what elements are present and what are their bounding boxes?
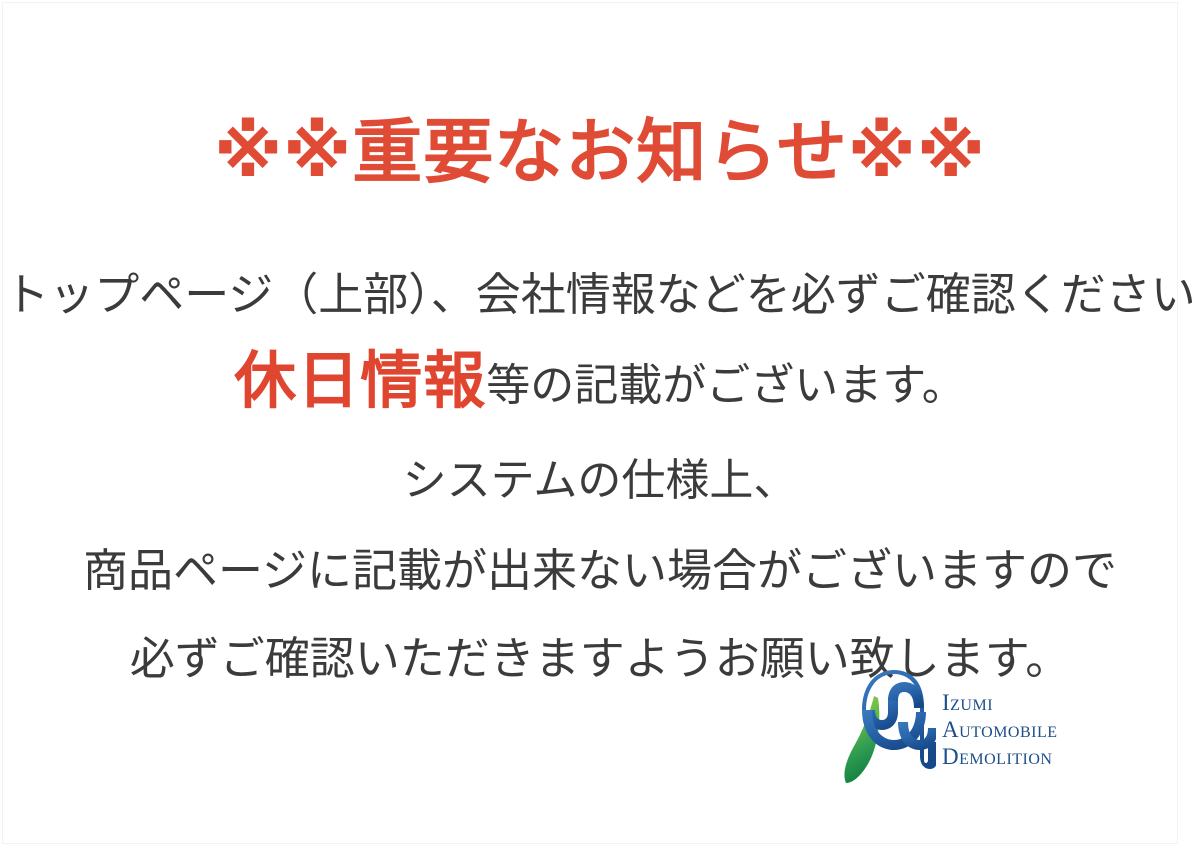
izumi-swirl-leaf-mark-icon (836, 670, 936, 792)
notice-line-4: 商品ページに記載が出来ない場合がございますので (0, 531, 1200, 611)
logo-line-izumi: Izumi (942, 690, 1058, 717)
notice-line-2-rest: 等の記載がございます。 (486, 360, 966, 411)
page-title: ※※重要なお知らせ※※ (0, 108, 1200, 196)
holiday-info-highlight: 休日情報 (234, 344, 486, 417)
notice-body: トップページ（上部）、会社情報などを必ずご確認ください 休日情報等の記載がござい… (0, 258, 1200, 699)
notice-line-1: トップページ（上部）、会社情報などを必ずご確認ください (0, 258, 1200, 332)
logo-wordmark: Izumi Automobile Demolition (942, 690, 1058, 770)
notice-line-2: 休日情報等の記載がございます。 (0, 338, 1200, 429)
notice-line-3: システムの仕様上、 (0, 441, 1200, 521)
logo-line-automobile: Automobile (942, 717, 1058, 744)
logo-line-demolition: Demolition (942, 744, 1058, 771)
notice-page: ※※重要なお知らせ※※ トップページ（上部）、会社情報などを必ずご確認ください … (0, 0, 1200, 848)
company-logo: Izumi Automobile Demolition (836, 668, 1116, 793)
